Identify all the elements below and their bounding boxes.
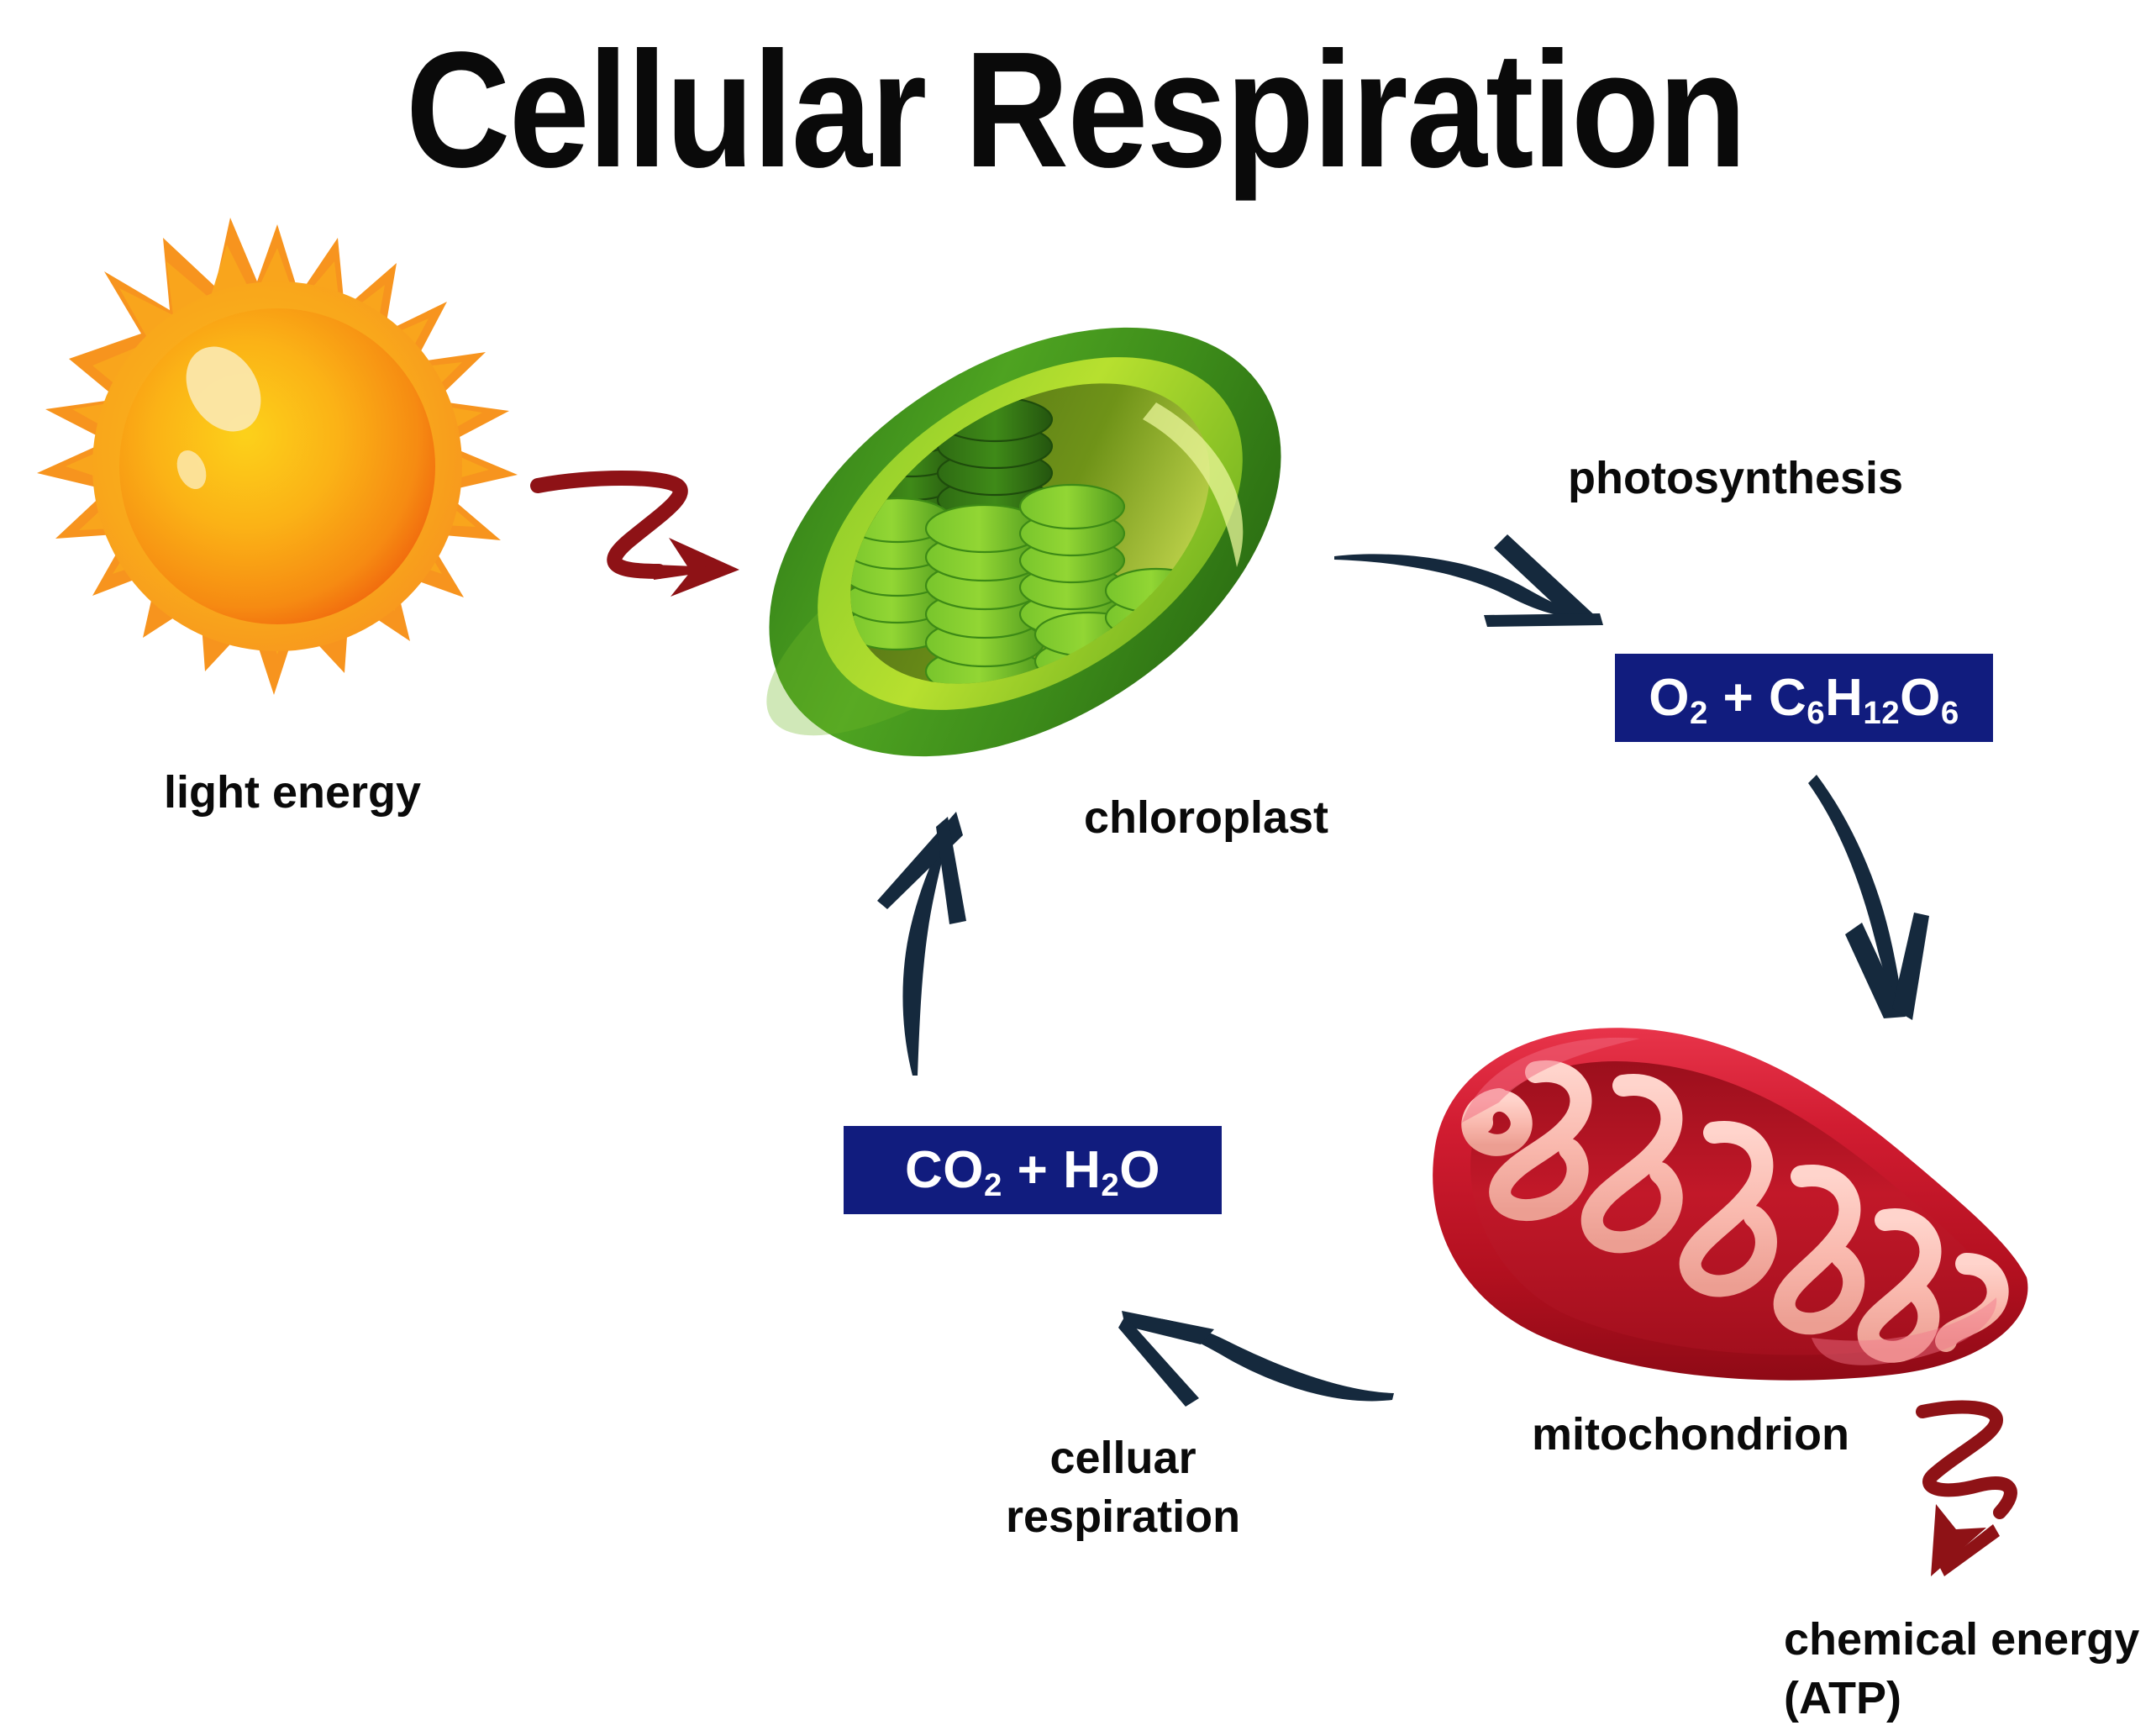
- cellular-respiration-line2: respiration: [1006, 1487, 1240, 1546]
- chemical-energy-label: chemical energy (ATP): [1784, 1610, 2139, 1728]
- formula-reactants-text: CO2 + H2O: [905, 1140, 1160, 1200]
- sun-core: [119, 308, 435, 624]
- chloroplast-label: chloroplast: [1084, 788, 1328, 848]
- chemical-energy-line2: (ATP): [1784, 1669, 2139, 1728]
- formula-box-products: O2 + C6H12O6: [1615, 654, 1993, 742]
- photosynthesis-label: photosynthesis: [1568, 449, 1903, 508]
- diagram-canvas: Cellular Respiration: [0, 0, 2151, 1736]
- chloroplast-illustration: [723, 298, 1328, 786]
- arrow-chloroplast-to-products: [1326, 519, 1628, 671]
- cellular-respiration-label: celluar respiration: [1006, 1428, 1240, 1546]
- arrow-reactants-to-chloroplast: [849, 798, 1067, 1084]
- sun-illustration: [25, 214, 529, 718]
- arrow-mitochondrion-to-reactants: [1097, 1267, 1433, 1435]
- page-title: Cellular Respiration: [129, 24, 2022, 197]
- cellular-respiration-line1: celluar: [1006, 1428, 1240, 1487]
- mitochondrion-label: mitochondrion: [1532, 1405, 1849, 1465]
- light-energy-label: light energy: [164, 763, 421, 823]
- arrow-mitochondrion-to-atp: [1916, 1402, 2092, 1612]
- formula-products-text: O2 + C6H12O6: [1649, 668, 1959, 728]
- chemical-energy-line1: chemical energy: [1784, 1610, 2139, 1669]
- mitochondrion-illustration: [1412, 992, 2050, 1412]
- granum-stack: [1166, 644, 1260, 735]
- formula-box-reactants: CO2 + H2O: [844, 1126, 1222, 1214]
